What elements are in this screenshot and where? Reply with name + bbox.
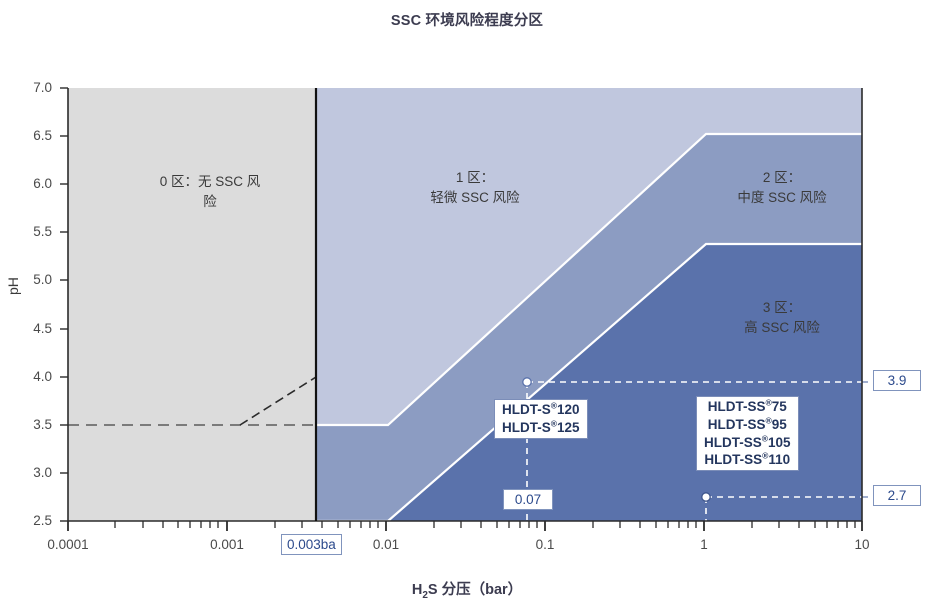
ytick-label: 6.5 <box>12 128 52 143</box>
xtick-label: 0.01 <box>356 537 416 552</box>
product-name: HLDT-SS <box>708 399 766 414</box>
x-axis-title-h: H <box>412 582 422 598</box>
product-name: HLDT-SS <box>704 452 762 467</box>
product-name: HLDT-S <box>502 402 551 417</box>
ytick-label: 3.0 <box>12 465 52 480</box>
product-label: HLDT-SS®95 <box>704 416 791 434</box>
zone1-label: 1 区： 轻微 SSC 风险 <box>385 168 565 207</box>
zone0-label-line2: 险 <box>120 192 300 212</box>
ytick-label: 3.5 <box>12 417 52 432</box>
zone2-label-line1: 2 区： <box>702 168 862 188</box>
ytick-label: 4.0 <box>12 369 52 384</box>
product-callout-box-2[interactable]: HLDT-SS®75 HLDT-SS®95 HLDT-SS®105 HLDT-S… <box>696 396 799 471</box>
x-ticks <box>68 521 862 531</box>
product-label: HLDT-SS®75 <box>704 398 791 416</box>
zone3-label: 3 区： 高 SSC 风险 <box>702 298 862 337</box>
zone1-label-line1: 1 区： <box>385 168 565 188</box>
xtick-highlight-box[interactable]: 0.003ba <box>281 534 342 555</box>
zone3-label-line1: 3 区： <box>702 298 862 318</box>
zone0-label-line1: 0 区：无 SSC 风 <box>120 172 300 192</box>
xtick-label: 1 <box>684 537 724 552</box>
product-label: HLDT-SS®110 <box>704 451 791 469</box>
product-grade: 75 <box>772 399 787 414</box>
product-name: HLDT-S <box>502 420 551 435</box>
product-name: HLDT-SS <box>704 435 762 450</box>
zone2-label: 2 区： 中度 SSC 风险 <box>702 168 862 207</box>
marker2-point <box>702 493 710 501</box>
product-grade: 95 <box>772 417 787 432</box>
product-grade: 110 <box>768 452 790 467</box>
ytick-label: 4.5 <box>12 321 52 336</box>
ytick-label: 7.0 <box>12 80 52 95</box>
x-axis-title: H2S 分压（bar） <box>0 578 934 601</box>
product-grade: 125 <box>557 420 580 435</box>
product-name: HLDT-SS <box>708 417 766 432</box>
ytick-label: 6.0 <box>12 176 52 191</box>
chart-container: SSC 环境风险程度分区 <box>0 0 934 616</box>
product-label: HLDT-S®120 <box>502 401 580 419</box>
ytick-label: 5.5 <box>12 224 52 239</box>
xtick-label: 10 <box>842 537 882 552</box>
product-callout-box-1[interactable]: HLDT-S®120 HLDT-S®125 <box>494 399 588 439</box>
pressure-value-box[interactable]: 0.07 <box>503 489 553 510</box>
xtick-label: 0.001 <box>192 537 262 552</box>
product-label: HLDT-S®125 <box>502 419 580 437</box>
product-grade: 120 <box>557 402 580 417</box>
product-grade: 105 <box>768 435 791 450</box>
ph-value-box-high[interactable]: 3.9 <box>873 370 921 391</box>
zone2-label-line2: 中度 SSC 风险 <box>702 188 862 208</box>
zone1-label-line2: 轻微 SSC 风险 <box>385 188 565 208</box>
xtick-label: 0.0001 <box>28 537 108 552</box>
product-label: HLDT-SS®105 <box>704 434 791 452</box>
zone0-label: 0 区：无 SSC 风 险 <box>120 172 300 211</box>
zone3-label-line2: 高 SSC 风险 <box>702 318 862 338</box>
xtick-label: 0.1 <box>520 537 570 552</box>
y-ticks <box>60 88 68 521</box>
x-axis-title-rest: S 分压（bar） <box>428 582 522 598</box>
zone0-region <box>68 88 316 521</box>
y-axis-title: pH <box>5 277 21 295</box>
ph-value-box-low[interactable]: 2.7 <box>873 485 921 506</box>
marker1-point <box>523 378 531 386</box>
ytick-label: 2.5 <box>12 513 52 528</box>
